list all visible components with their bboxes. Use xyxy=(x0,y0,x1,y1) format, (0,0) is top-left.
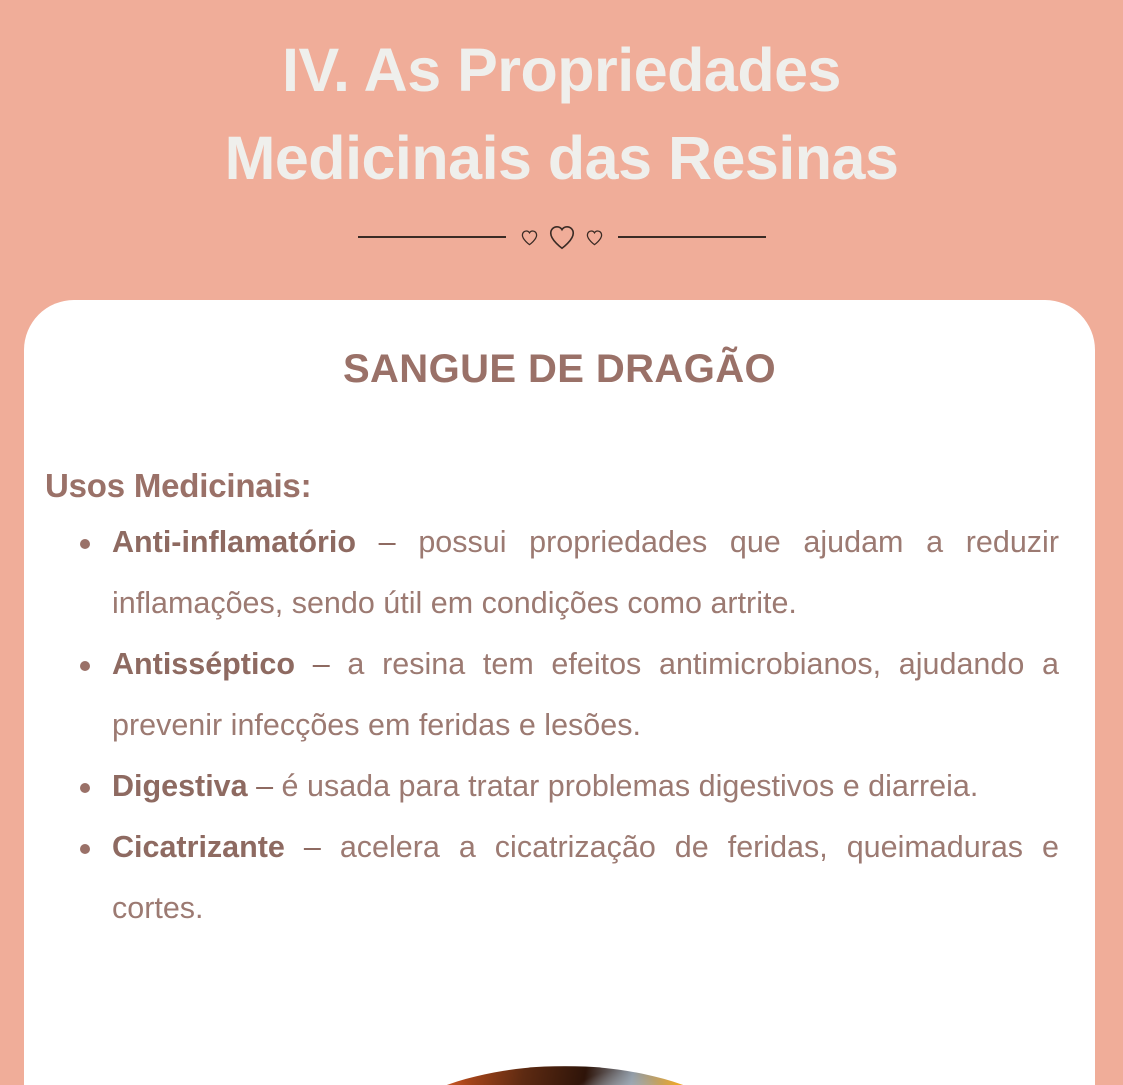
use-description: é usada para tratar problemas digestivos… xyxy=(282,769,979,803)
slide-page: IV. As Propriedades Medicinais das Resin… xyxy=(0,0,1123,1085)
divider-hearts xyxy=(520,222,604,252)
list-item: Cicatrizante – acelera a cicatrização de… xyxy=(78,817,1059,939)
heart-outline-small-icon xyxy=(520,228,539,247)
use-term: Antisséptico xyxy=(112,647,295,681)
header: IV. As Propriedades Medicinais das Resin… xyxy=(0,0,1123,202)
card-title: SANGUE DE DRAGÃO xyxy=(24,300,1095,393)
list-item: Anti-inflamatório – possui propriedades … xyxy=(78,512,1059,634)
list-item: Antisséptico – a resina tem efeitos anti… xyxy=(78,634,1059,756)
use-term: Cicatrizante xyxy=(112,830,285,864)
list-item: Digestiva – é usada para tratar problema… xyxy=(78,756,1059,817)
page-title: IV. As Propriedades Medicinais das Resin… xyxy=(152,26,972,202)
heart-outline-small-icon-2 xyxy=(585,228,604,247)
dragons-blood-resin-photo xyxy=(355,1066,775,1085)
heart-outline-large-icon xyxy=(547,222,577,252)
use-term: Digestiva xyxy=(112,769,248,803)
use-dash: – xyxy=(248,769,282,803)
section-label-usos-medicinais: Usos Medicinais: xyxy=(24,393,1095,506)
medicinal-uses-list: Anti-inflamatório – possui propriedades … xyxy=(24,506,1095,939)
use-term: Anti-inflamatório xyxy=(112,525,356,559)
content-card: SANGUE DE DRAGÃO Usos Medicinais: Anti-i… xyxy=(24,300,1095,1085)
divider-line-right xyxy=(618,236,766,238)
divider-line-left xyxy=(358,236,506,238)
use-dash: – xyxy=(295,647,347,681)
photo-image xyxy=(355,1066,775,1085)
decorative-divider xyxy=(0,214,1123,260)
use-dash: – xyxy=(285,830,340,864)
use-dash: – xyxy=(356,525,418,559)
